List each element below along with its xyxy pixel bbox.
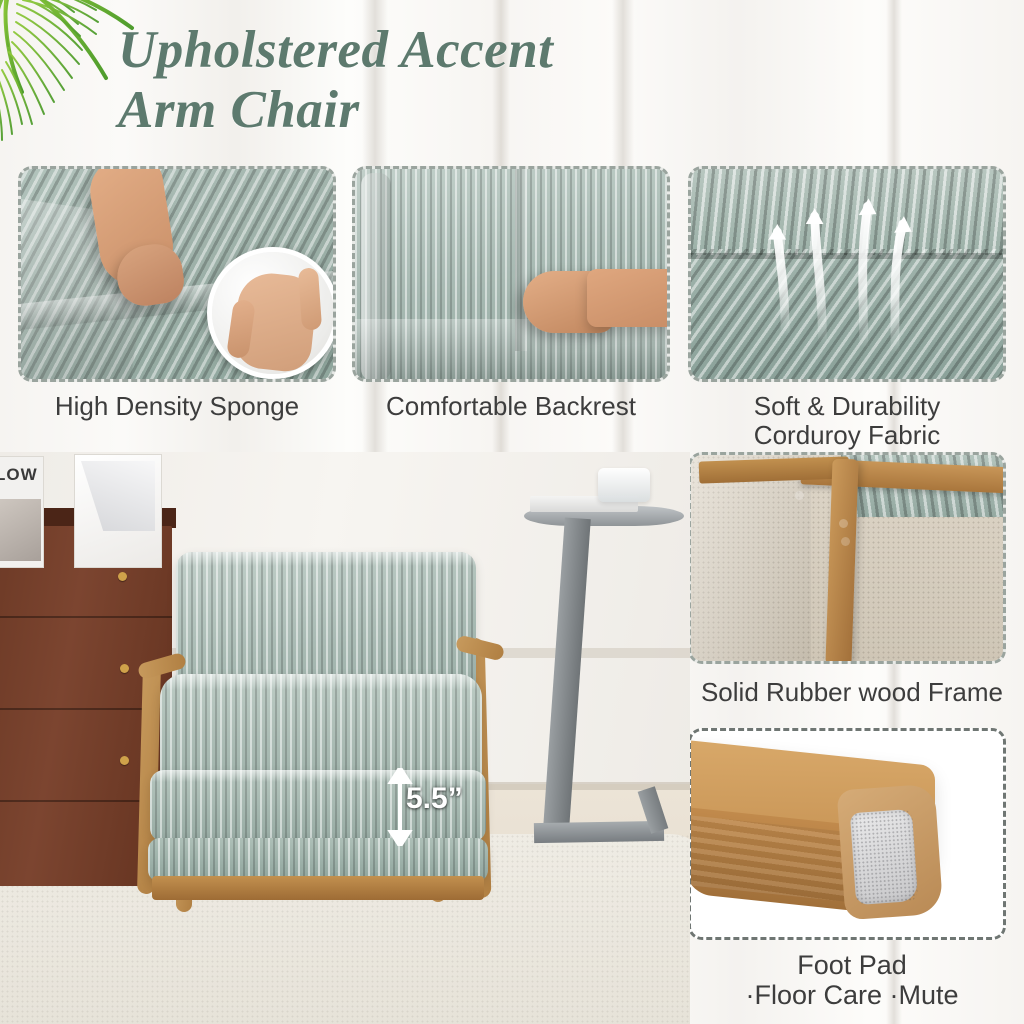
title-line-2: Arm Chair <box>118 80 838 140</box>
magazine-left: LOW <box>0 456 44 568</box>
chair-apron <box>152 876 484 900</box>
seat-cushion-edge <box>355 319 670 382</box>
cushion-gap <box>515 166 527 351</box>
side-table-post <box>543 517 591 828</box>
caption-comfortable-backrest: Comfortable Backrest <box>342 392 680 421</box>
foot-pad-photo <box>691 731 1003 937</box>
panel-soft-durability-corduroy[interactable] <box>688 166 1006 382</box>
sponge-photo <box>21 169 333 379</box>
corduroy-photo <box>691 169 1003 379</box>
caption-solid-rubber-wood-frame: Solid Rubber wood Frame <box>680 678 1024 707</box>
product-infographic: Upholstered Accent Arm Chair High Densit… <box>0 0 1024 1024</box>
side-table-base <box>534 821 664 843</box>
hand-on-foam-inset <box>207 247 336 379</box>
magazine-right <box>74 454 162 568</box>
magazine-title: LOW <box>0 465 38 485</box>
panel-solid-rubber-wood-frame[interactable] <box>688 452 1006 664</box>
side-table <box>524 492 690 892</box>
panel-comfortable-backrest[interactable] <box>352 166 670 382</box>
panel-high-density-sponge[interactable] <box>18 166 336 382</box>
wood-dowel-3 <box>795 491 804 500</box>
caption-high-density-sponge: High Density Sponge <box>8 392 346 421</box>
caption-soft-durability-corduroy: Soft & Durability Corduroy Fabric <box>688 392 1006 450</box>
forearm <box>587 269 670 327</box>
title-line-1: Upholstered Accent <box>118 21 553 79</box>
dimension-label: 5.5” <box>406 782 463 816</box>
backrest-photo <box>355 169 667 379</box>
wood-dowel-2 <box>841 537 850 546</box>
rug-left-shade <box>691 455 811 664</box>
panel-foot-pad[interactable] <box>688 728 1006 940</box>
wood-frame-photo <box>691 455 1003 661</box>
caption-foot-pad: Foot Pad ·Floor Care ·Mute <box>680 950 1024 1010</box>
page-title: Upholstered Accent Arm Chair <box>118 20 838 141</box>
wood-dowel-1 <box>839 519 848 528</box>
hero-room-scene: LOW <box>0 452 690 1024</box>
felt-foot-pad <box>850 809 918 905</box>
glass-cup <box>598 468 650 502</box>
airflow-arrows-icon <box>691 169 1003 381</box>
